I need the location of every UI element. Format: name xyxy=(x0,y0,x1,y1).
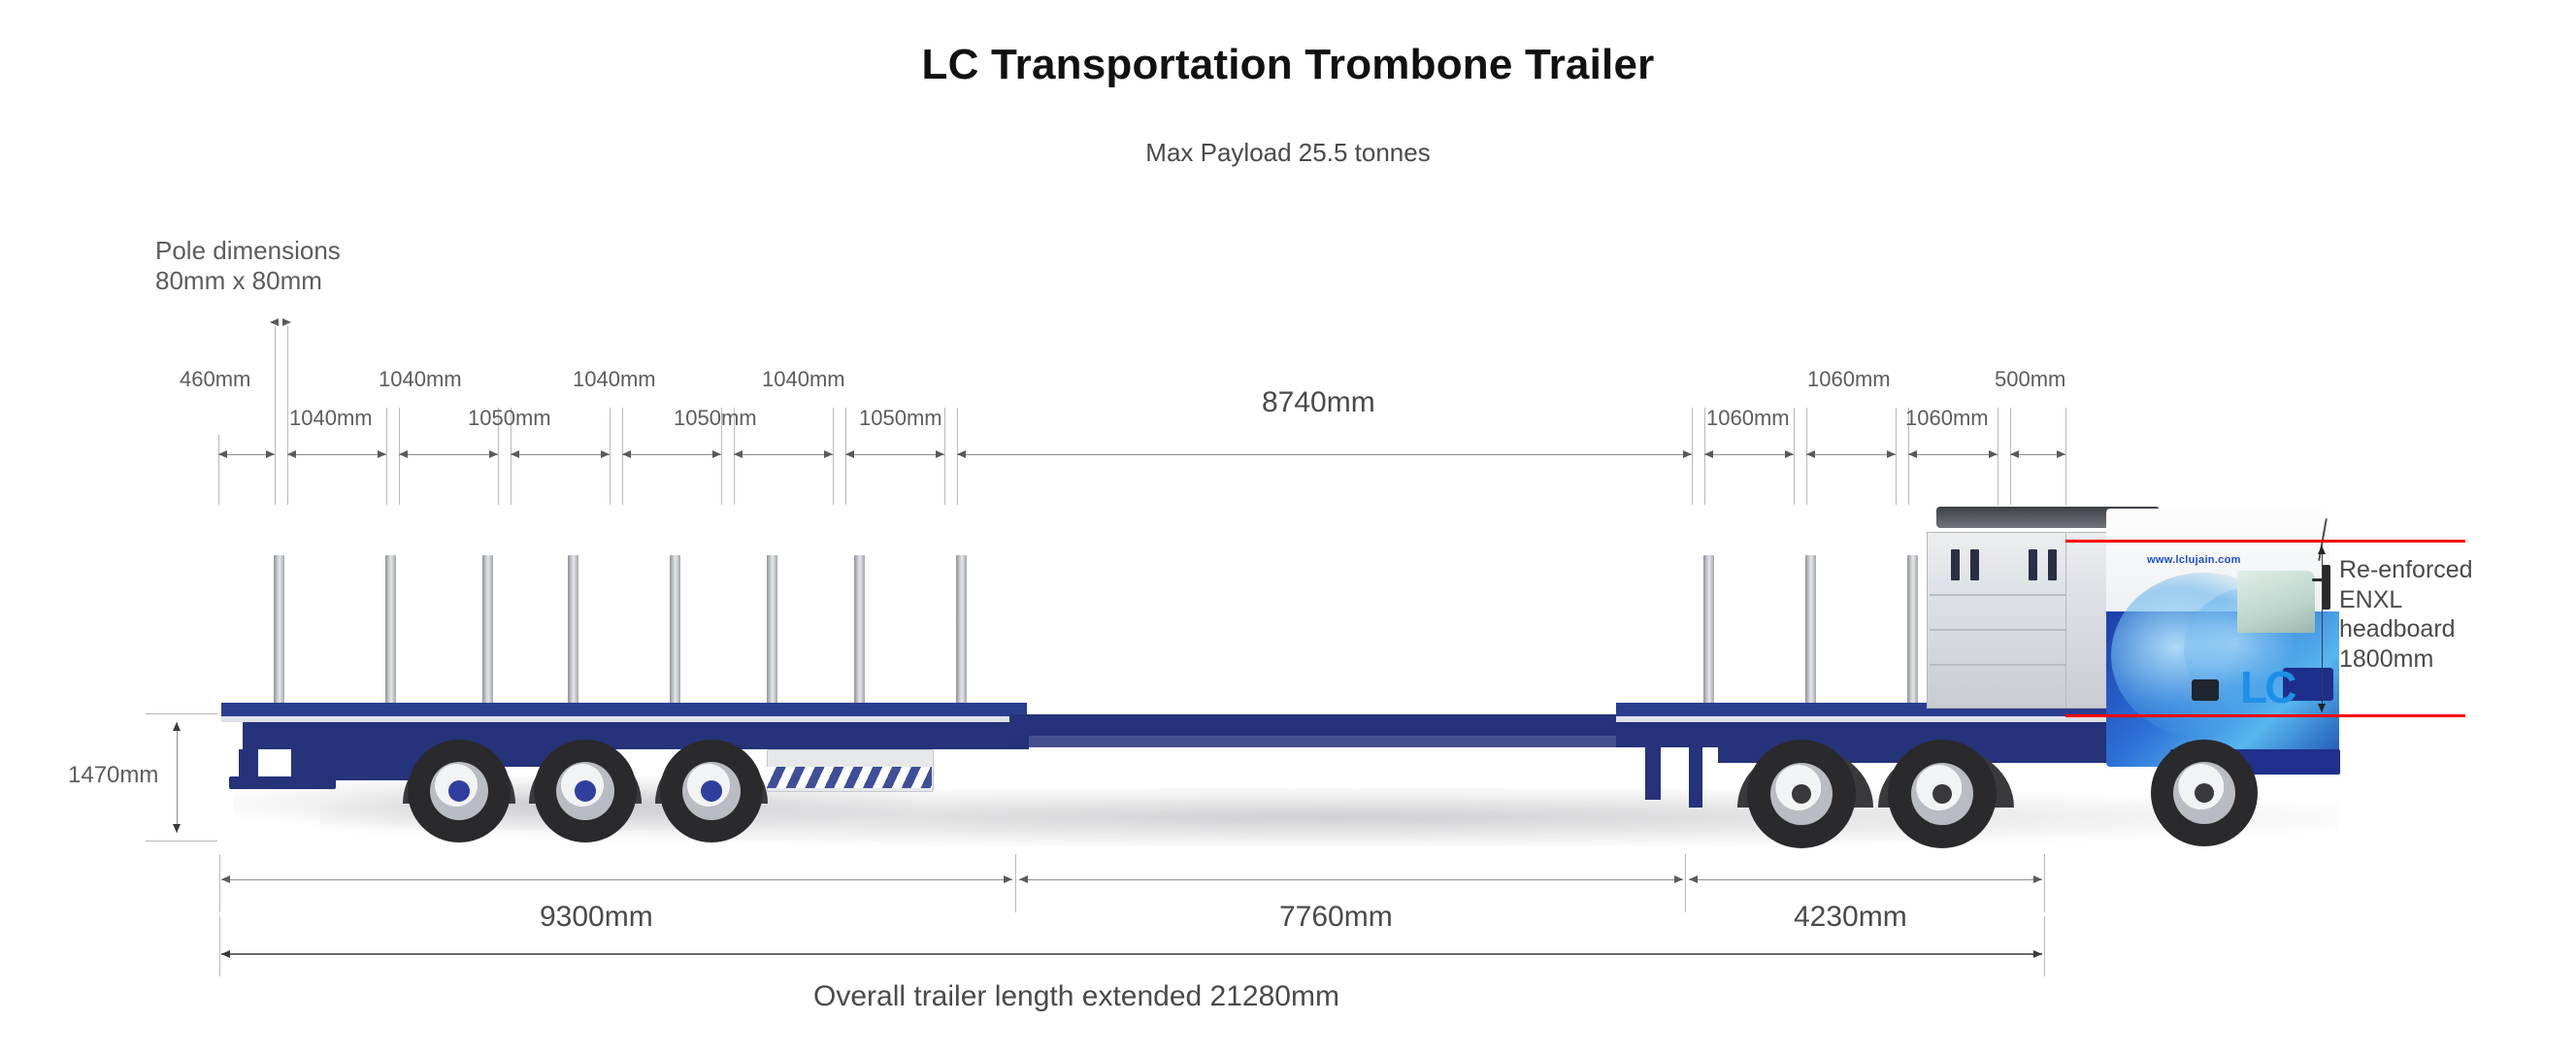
dimension-line-4230 xyxy=(1689,879,2042,880)
dimension-label-4230: 4230mm xyxy=(1794,901,1907,934)
dimension-line-7760 xyxy=(1019,879,1683,880)
dimension-line-9300 xyxy=(221,879,1012,880)
dimension-label-7760: 7760mm xyxy=(1279,901,1393,934)
bottom-dimension-chain: 9300mm 7760mm 4230mm Overall trailer len… xyxy=(0,0,2576,1056)
extension-line xyxy=(219,854,220,912)
extension-line-overall-left xyxy=(219,916,220,976)
extension-line xyxy=(2044,854,2045,912)
overall-length-label: Overall trailer length extended 21280mm xyxy=(813,980,1339,1013)
dimension-label-9300: 9300mm xyxy=(540,901,653,934)
dimension-line-overall xyxy=(221,953,2042,955)
extension-line-overall-right xyxy=(2044,916,2045,976)
extension-line xyxy=(1685,854,1686,912)
extension-line xyxy=(1015,854,1016,912)
